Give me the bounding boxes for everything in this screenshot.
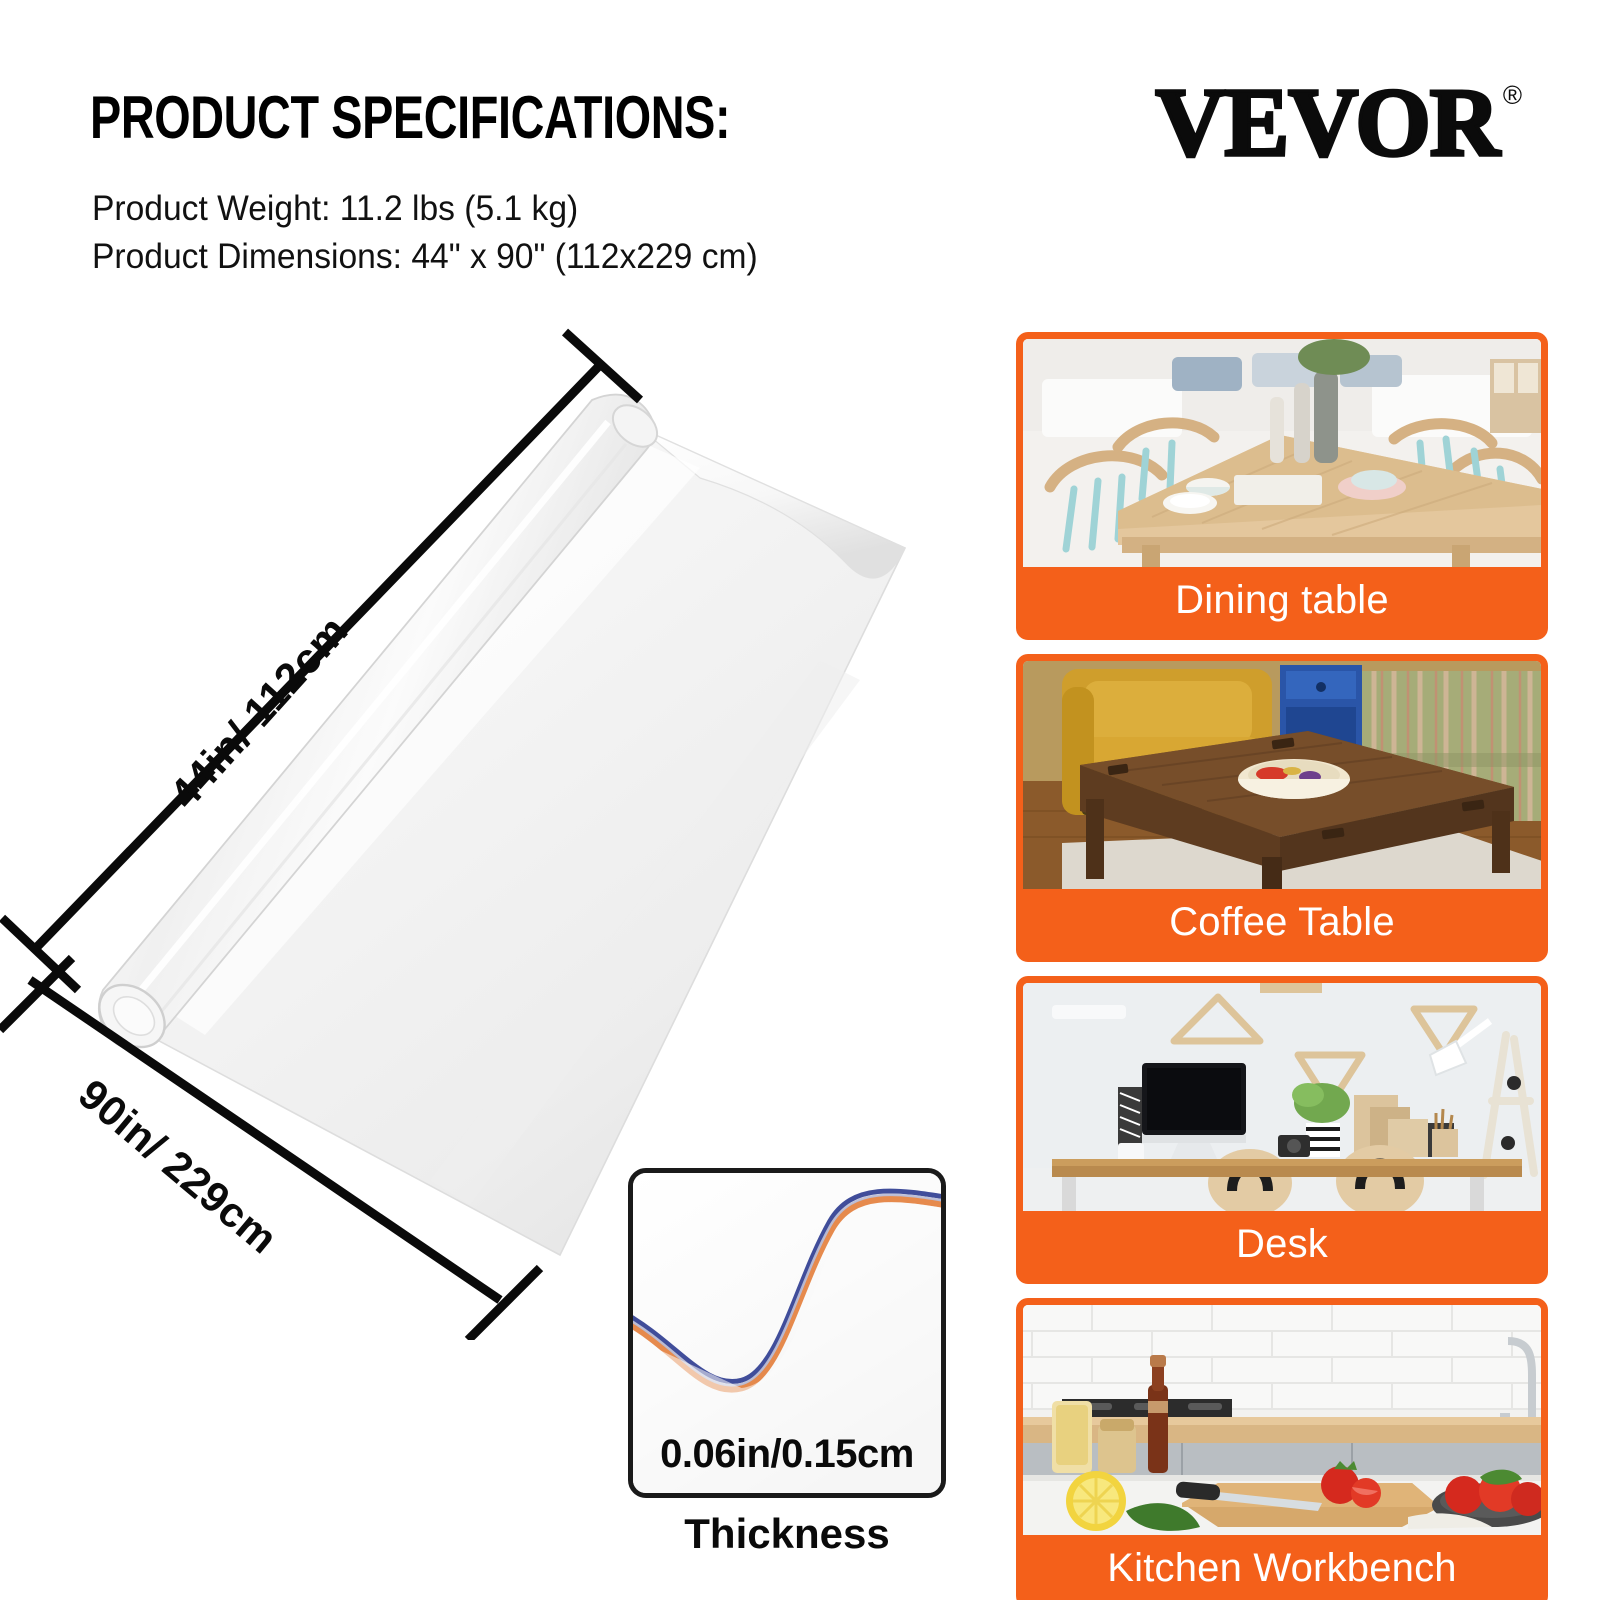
- dimension-tick-length-start: [0, 958, 72, 1030]
- thickness-caption: Thickness: [628, 1510, 946, 1558]
- registered-trademark-icon: ®: [1503, 82, 1522, 108]
- vevor-logo: VEVOR ®: [1155, 78, 1522, 167]
- spec-dimensions: Product Dimensions: 44" x 90" (112x229 c…: [92, 233, 758, 281]
- thickness-value: 0.06in/0.15cm: [633, 1432, 941, 1477]
- dining-table-photo: [1023, 339, 1541, 567]
- spec-list: Product Weight: 11.2 lbs (5.1 kg) Produc…: [92, 185, 785, 281]
- use-case-card-desk[interactable]: Desk: [1016, 976, 1548, 1284]
- use-case-caption-dining-table: Dining table: [1023, 567, 1541, 633]
- dimension-tick-width-start: [2, 918, 78, 990]
- use-case-card-list: Dining table: [1016, 332, 1548, 1600]
- use-case-caption-coffee-table: Coffee Table: [1023, 889, 1541, 955]
- use-case-card-dining-table[interactable]: Dining table: [1016, 332, 1548, 640]
- use-case-caption-kitchen-workbench: Kitchen Workbench: [1023, 1535, 1541, 1600]
- use-case-card-coffee-table[interactable]: Coffee Table: [1016, 654, 1548, 962]
- dimension-tick-length-end: [468, 1268, 540, 1340]
- kitchen-workbench-photo: [1023, 1305, 1541, 1535]
- page-title: PRODUCT SPECIFICATIONS:: [90, 88, 730, 148]
- coffee-table-photo: [1023, 661, 1541, 889]
- use-case-caption-desk: Desk: [1023, 1211, 1541, 1277]
- brand-wordmark: VEVOR: [1155, 78, 1498, 167]
- thickness-callout-card: 0.06in/0.15cm: [628, 1168, 946, 1498]
- spec-weight: Product Weight: 11.2 lbs (5.1 kg): [92, 185, 758, 233]
- desk-photo: [1023, 983, 1541, 1211]
- use-case-card-kitchen-workbench[interactable]: Kitchen Workbench: [1016, 1298, 1548, 1600]
- product-specifications-infographic: PRODUCT SPECIFICATIONS: Product Weight: …: [0, 0, 1600, 1600]
